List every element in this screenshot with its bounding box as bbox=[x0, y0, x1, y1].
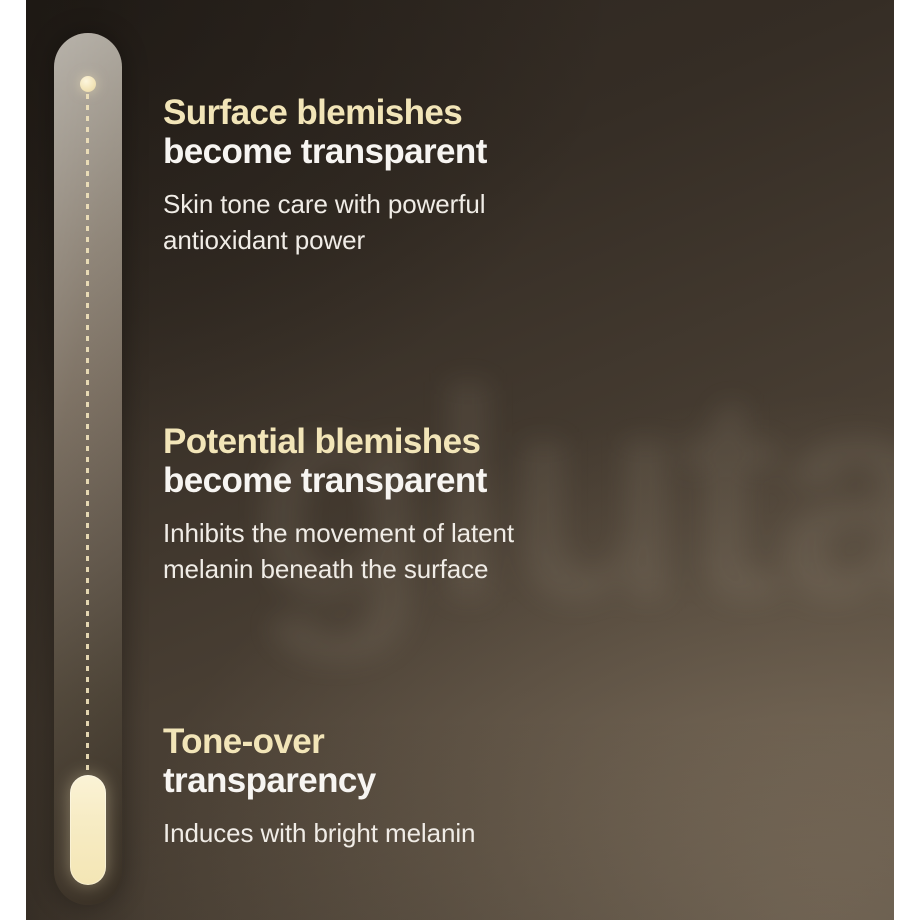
infographic-canvas: gluta Surface blemishes become transpare… bbox=[0, 0, 920, 920]
step-1-description: Skin tone care with powerful antioxidant… bbox=[163, 187, 487, 258]
step-1-description-line-1: Skin tone care with powerful bbox=[163, 187, 487, 222]
step-3-description-line-1: Induces with bright melanin bbox=[163, 816, 475, 851]
vertical-timeline-track bbox=[54, 33, 122, 905]
step-2-description-line-2: melanin beneath the surface bbox=[163, 552, 514, 587]
step-item-3: Tone-over transparency Induces with brig… bbox=[163, 722, 475, 852]
step-3-heading-accent: Tone-over bbox=[163, 722, 475, 761]
timeline-dotted-connector bbox=[86, 83, 89, 809]
step-item-2: Potential blemishes become transparent I… bbox=[163, 422, 514, 587]
artwork-panel: gluta Surface blemishes become transpare… bbox=[26, 0, 894, 920]
step-2-description-line-1: Inhibits the movement of latent bbox=[163, 516, 514, 551]
step-1-description-line-2: antioxidant power bbox=[163, 223, 487, 258]
step-3-description: Induces with bright melanin bbox=[163, 816, 475, 851]
step-2-heading-white: become transparent bbox=[163, 461, 514, 500]
step-2-description: Inhibits the movement of latent melanin … bbox=[163, 516, 514, 587]
step-3-heading-white: transparency bbox=[163, 761, 475, 800]
step-1-heading-accent: Surface blemishes bbox=[163, 93, 487, 132]
timeline-start-dot-icon bbox=[80, 76, 96, 92]
step-item-1: Surface blemishes become transparent Ski… bbox=[163, 93, 487, 258]
step-1-heading-white: become transparent bbox=[163, 132, 487, 171]
timeline-end-pill-icon bbox=[70, 775, 106, 885]
step-2-heading-accent: Potential blemishes bbox=[163, 422, 514, 461]
